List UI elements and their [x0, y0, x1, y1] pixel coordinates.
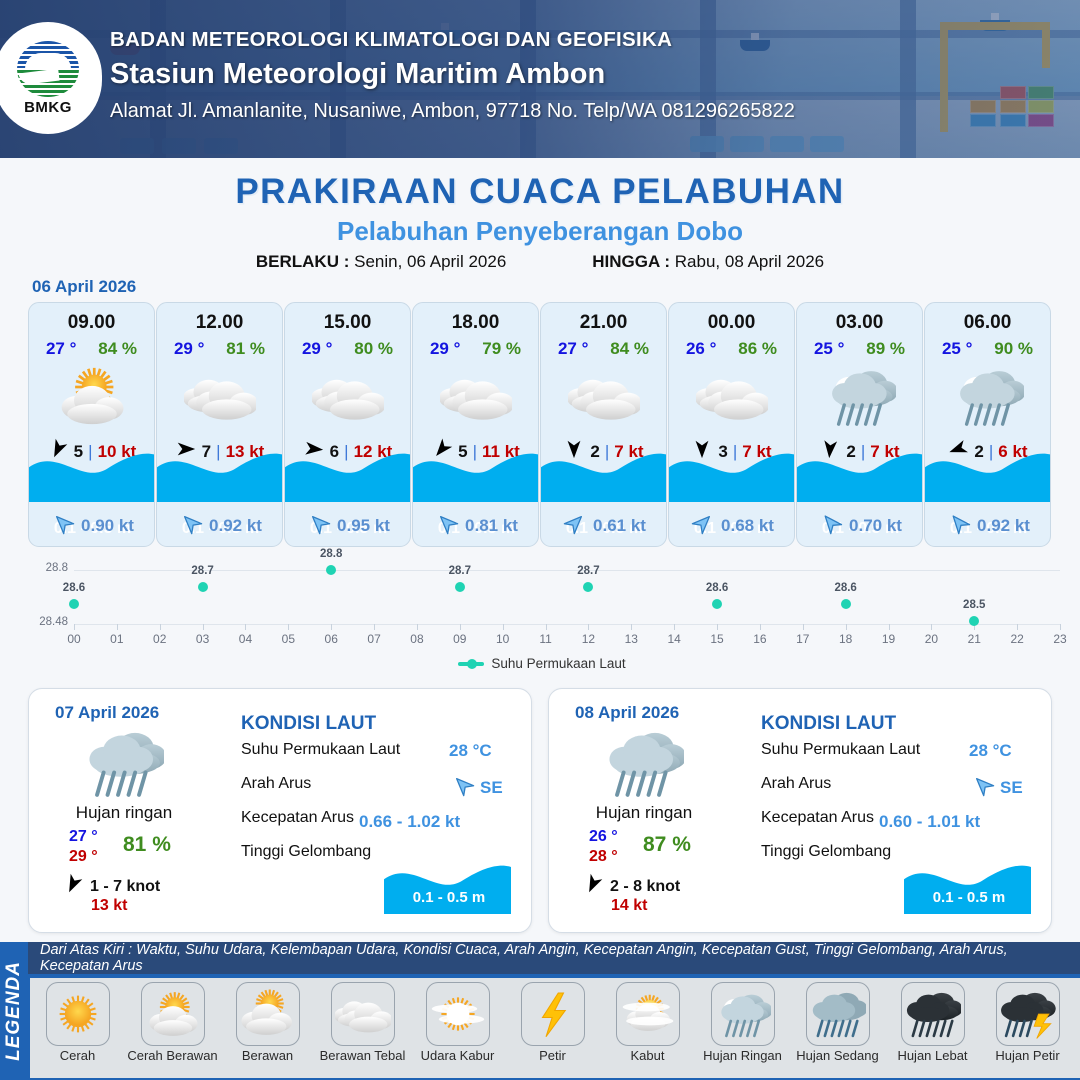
panel-current-speed: 0.60 - 1.01 kt	[879, 812, 980, 832]
legend-label: Suhu Permukaan Laut	[491, 656, 625, 671]
legend-item-label: Hujan Ringan	[703, 1049, 782, 1063]
chart-x-tick	[203, 624, 204, 630]
wind-direction-arrow-icon	[62, 873, 84, 900]
current-direction-arrow-icon	[691, 511, 715, 540]
card-wave-graphic	[669, 446, 795, 502]
card-humidity: 84 %	[610, 339, 649, 359]
legend-item: Cerah	[30, 982, 125, 1063]
card-time: 00.00	[669, 312, 794, 334]
weather-icon-cloudy	[541, 361, 666, 431]
legend-icon-moderate-rain	[806, 982, 870, 1046]
chart-data-label: 28.6	[706, 582, 728, 594]
legend-icon-thunder-rain	[996, 982, 1060, 1046]
card-temperature: 29 °	[302, 339, 332, 359]
weather-icon-light-rain	[797, 361, 922, 431]
chart-x-tick-label: 15	[710, 632, 723, 646]
hourly-card: 15.00 29 ° 80 % 6 | 12 kt 0.1 - 0.5 m	[284, 302, 411, 547]
card-current-speed: 0.92 kt	[209, 516, 262, 536]
legend-item-label: Hujan Lebat	[897, 1049, 967, 1063]
panel-wave-height: 0.1 - 0.5 m	[904, 889, 1034, 906]
chart-x-tick	[803, 624, 804, 630]
panel-condition: Hujan ringan	[569, 803, 719, 823]
current-direction-arrow-icon	[435, 511, 459, 540]
chart-y-tick-label: 28.8	[24, 562, 68, 574]
legend-item: Petir	[505, 982, 600, 1063]
card-wave-graphic	[541, 446, 667, 502]
hourly-card: 00.00 26 ° 86 % 3 | 7 kt 0.1 - 0.5 m	[668, 302, 795, 547]
card-temperature: 26 °	[686, 339, 716, 359]
chart-x-tick	[760, 624, 761, 630]
weather-icon-light-rain	[925, 361, 1050, 431]
card-temperature: 29 °	[174, 339, 204, 359]
legend-item: Berawan Tebal	[315, 982, 410, 1063]
current-direction-arrow-icon	[179, 511, 203, 540]
chart-x-tick	[1017, 624, 1018, 630]
legend-item: Hujan Sedang	[790, 982, 885, 1063]
chart-x-tick-label: 20	[925, 632, 938, 646]
hourly-card: 18.00 29 ° 79 % 5 | 11 kt 0.1 - 0.5 m	[412, 302, 539, 547]
card-time: 15.00	[285, 312, 410, 334]
panel-humidity: 87 %	[643, 833, 691, 857]
chart-data-label: 28.8	[320, 548, 342, 560]
legend-icon-sunny	[46, 982, 110, 1046]
card-current: 0.61 kt	[541, 511, 667, 540]
panel-temp-max: 29 °	[69, 847, 98, 867]
chart-x-tick	[417, 624, 418, 630]
chart-data-label: 28.6	[63, 582, 85, 594]
current-direction-arrow-icon	[947, 511, 971, 540]
chart-x-tick-label: 12	[582, 632, 595, 646]
legend-icon-list: Cerah Cerah Berawan Berawan	[30, 978, 1080, 1078]
chart-x-tick	[160, 624, 161, 630]
panel-condition: Hujan ringan	[49, 803, 199, 823]
card-humidity: 84 %	[98, 339, 137, 359]
card-current: 0.92 kt	[157, 511, 283, 540]
panel-wave-graphic: 0.1 - 0.5 m	[384, 864, 514, 914]
legend-icon-haze	[426, 982, 490, 1046]
weather-icon-cloudy	[285, 361, 410, 431]
panel-current-direction: SE	[451, 773, 503, 802]
hourly-card: 03.00 25 ° 89 % 2 | 7 kt	[796, 302, 923, 547]
chart-x-tick-label: 06	[325, 632, 338, 646]
card-current: 0.70 kt	[797, 511, 923, 540]
chart-x-tick	[889, 624, 890, 630]
legend-item-label: Cerah	[60, 1049, 95, 1063]
weather-icon-light-rain	[577, 723, 707, 801]
panel-wave-graphic: 0.1 - 0.5 m	[904, 864, 1034, 914]
panel-row-labels: Suhu Permukaan Laut Arah Arus Kecepatan …	[241, 741, 521, 877]
legend-icon-lightning	[521, 982, 585, 1046]
legend-item: Kabut	[600, 982, 695, 1063]
panel-wind: 1 - 7 knot	[62, 873, 160, 900]
valid-until-value: Rabu, 08 April 2026	[675, 252, 824, 271]
chart-data-label: 28.6	[834, 582, 856, 594]
agency-name: BADAN METEOROLOGI KLIMATOLOGI DAN GEOFIS…	[110, 28, 1060, 52]
legend-item-label: Berawan	[242, 1049, 293, 1063]
card-wave-graphic	[285, 446, 411, 502]
panel-sst-value: 28 °C	[969, 741, 1012, 761]
panel-row-labels: Suhu Permukaan Laut Arah Arus Kecepatan …	[761, 741, 1041, 877]
card-current: 0.95 kt	[285, 511, 411, 540]
card-time: 12.00	[157, 312, 282, 334]
chart-x-tick-label: 22	[1010, 632, 1023, 646]
weather-icon-cloudy	[413, 361, 538, 431]
chart-data-point	[583, 582, 593, 592]
legend-item-label: Petir	[539, 1049, 566, 1063]
weather-icon-cloudy	[669, 361, 794, 431]
hourly-card: 12.00 29 ° 81 % 7 | 13 kt 0.1 - 0.5 m	[156, 302, 283, 547]
chart-data-label: 28.5	[963, 599, 985, 611]
legend-icon-mostly-cloudy	[236, 982, 300, 1046]
chart-x-tick-label: 11	[539, 632, 551, 646]
chart-data-point	[198, 582, 208, 592]
chart-x-tick-label: 23	[1053, 632, 1066, 646]
legend-item-label: Cerah Berawan	[127, 1049, 217, 1063]
chart-x-tick-label: 03	[196, 632, 209, 646]
legend-item: Cerah Berawan	[125, 982, 220, 1063]
legend-note: Dari Atas Kiri : Waktu, Suhu Udara, Kele…	[28, 942, 1080, 974]
card-wave-graphic	[797, 446, 923, 502]
wind-direction-arrow-icon	[582, 873, 604, 900]
panel-temperatures: 26 ° 28 °	[589, 827, 618, 867]
chart-x-tick-label: 00	[67, 632, 80, 646]
legend-item-label: Hujan Sedang	[796, 1049, 878, 1063]
chart-data-point	[712, 599, 722, 609]
chart-x-tick-label: 04	[239, 632, 252, 646]
card-temperature: 27 °	[558, 339, 588, 359]
legend-item-label: Udara Kabur	[421, 1049, 495, 1063]
panel-wind-range: 1 - 7 knot	[90, 878, 160, 896]
card-wave-graphic	[29, 446, 155, 502]
card-humidity: 79 %	[482, 339, 521, 359]
chart-data-point	[69, 599, 79, 609]
card-current: 0.68 kt	[669, 511, 795, 540]
card-current-speed: 0.61 kt	[593, 516, 646, 536]
legend-item-label: Hujan Petir	[995, 1049, 1059, 1063]
chart-x-tick	[288, 624, 289, 630]
chart-x-tick-label: 07	[367, 632, 380, 646]
chart-x-tick	[631, 624, 632, 630]
card-humidity: 80 %	[354, 339, 393, 359]
chart-x-tick-label: 16	[753, 632, 766, 646]
panel-gust: 13 kt	[91, 897, 127, 915]
panel-temp-max: 28 °	[589, 847, 618, 867]
card-wave-graphic	[413, 446, 539, 502]
weather-icon-partly-cloudy	[29, 361, 154, 431]
chart-x-tick	[674, 624, 675, 630]
card-current: 0.90 kt	[29, 511, 155, 540]
hourly-card: 06.00 25 ° 90 % 2 | 6 kt	[924, 302, 1051, 547]
chart-x-tick-label: 02	[153, 632, 166, 646]
panel-section-title: KONDISI LAUT	[761, 713, 896, 735]
card-current-speed: 0.92 kt	[977, 516, 1030, 536]
legend-icon-partly-cloudy	[141, 982, 205, 1046]
panel-current-direction-label: SE	[480, 778, 503, 798]
panel-wind: 2 - 8 knot	[582, 873, 680, 900]
panel-current-speed: 0.66 - 1.02 kt	[359, 812, 460, 832]
chart-x-tick	[503, 624, 504, 630]
panel-gust: 14 kt	[611, 897, 647, 915]
legend-item: Hujan Ringan	[695, 982, 790, 1063]
page-header: BMKG BADAN METEOROLOGI KLIMATOLOGI DAN G…	[0, 0, 1080, 158]
chart-legend: Suhu Permukaan Laut	[24, 656, 1060, 671]
chart-data-point	[841, 599, 851, 609]
chart-x-tick	[846, 624, 847, 630]
chart-x-tick	[931, 624, 932, 630]
weather-icon-cloudy	[157, 361, 282, 431]
chart-x-tick-label: 21	[968, 632, 981, 646]
station-name: Stasiun Meteorologi Maritim Ambon	[110, 58, 1060, 91]
chart-x-tick	[717, 624, 718, 630]
card-time: 06.00	[925, 312, 1050, 334]
sst-chart: Suhu Permukaan Laut 28.828.4800010203040…	[24, 552, 1060, 682]
card-current: 0.81 kt	[413, 511, 539, 540]
current-direction-arrow-icon	[307, 511, 331, 540]
chart-gridline	[74, 570, 1060, 571]
card-time: 09.00	[29, 312, 154, 334]
page-title: PRAKIRAAN CUACA PELABUHAN	[0, 172, 1080, 212]
card-current: 0.92 kt	[925, 511, 1051, 540]
panel-temperatures: 27 ° 29 °	[69, 827, 98, 867]
chart-data-point	[455, 582, 465, 592]
chart-x-tick-label: 08	[410, 632, 423, 646]
chart-x-tick	[460, 624, 461, 630]
chart-x-tick	[546, 624, 547, 630]
card-current-speed: 0.70 kt	[849, 516, 902, 536]
valid-from-value: Senin, 06 April 2026	[354, 252, 506, 271]
current-direction-arrow-icon	[563, 511, 587, 540]
hourly-forecast-cards: 09.00 27 ° 84 % 5 | 10 kt 0.1 - 0.5 m 0.…	[28, 302, 1052, 547]
chart-x-tick-label: 09	[453, 632, 466, 646]
daily-panel: 07 April 2026 Hujan ringan 27 ° 29 ° 81 …	[28, 688, 532, 933]
chart-data-label: 28.7	[191, 565, 213, 577]
station-address: Alamat Jl. Amanlanite, Nusaniwe, Ambon, …	[110, 100, 1060, 123]
card-temperature: 25 °	[814, 339, 844, 359]
card-temperature: 29 °	[430, 339, 460, 359]
panel-temp-min: 26 °	[589, 827, 618, 847]
card-wave-graphic	[157, 446, 283, 502]
logo-text: BMKG	[24, 99, 72, 116]
hourly-card: 21.00 27 ° 84 % 2 | 7 kt 0.1 - 0.5 m	[540, 302, 667, 547]
panel-temp-min: 27 °	[69, 827, 98, 847]
hourly-card: 09.00 27 ° 84 % 5 | 10 kt 0.1 - 0.5 m 0.…	[28, 302, 155, 547]
chart-x-tick-label: 10	[496, 632, 509, 646]
card-current-speed: 0.95 kt	[337, 516, 390, 536]
chart-x-tick	[1060, 624, 1061, 630]
legend-item: Udara Kabur	[410, 982, 505, 1063]
panel-section-title: KONDISI LAUT	[241, 713, 376, 735]
chart-x-tick-label: 18	[839, 632, 852, 646]
legend-side-label: LEGENDA	[0, 942, 28, 1080]
bmkg-logo: BMKG	[0, 22, 102, 134]
chart-x-tick-label: 19	[882, 632, 895, 646]
legend-item-label: Berawan Tebal	[320, 1049, 406, 1063]
chart-x-tick-label: 05	[282, 632, 295, 646]
legend-icon-heavy-rain	[901, 982, 965, 1046]
card-current-speed: 0.68 kt	[721, 516, 774, 536]
legend-marker-icon	[458, 662, 484, 666]
chart-x-tick	[74, 624, 75, 630]
legend-item: Hujan Lebat	[885, 982, 980, 1063]
legend-icon-fog	[616, 982, 680, 1046]
current-direction-arrow-icon	[819, 511, 843, 540]
chart-x-tick	[117, 624, 118, 630]
legend-icon-cloudy	[331, 982, 395, 1046]
card-time: 03.00	[797, 312, 922, 334]
weather-icon-light-rain	[57, 723, 187, 801]
panel-wave-height: 0.1 - 0.5 m	[384, 889, 514, 906]
panel-current-direction-label: SE	[1000, 778, 1023, 798]
chart-x-tick-label: 13	[625, 632, 638, 646]
panel-sst-value: 28 °C	[449, 741, 492, 761]
validity-row: BERLAKU : Senin, 06 April 2026 HINGGA : …	[0, 252, 1080, 272]
valid-from-label: BERLAKU :	[256, 252, 350, 271]
chart-x-tick	[588, 624, 589, 630]
legend-item-label: Kabut	[631, 1049, 665, 1063]
card-humidity: 90 %	[994, 339, 1033, 359]
panel-wind-range: 2 - 8 knot	[610, 878, 680, 896]
chart-x-tick-label: 17	[796, 632, 809, 646]
current-direction-arrow-icon	[51, 511, 75, 540]
chart-y-tick-label: 28.48	[24, 616, 68, 628]
legend-item: Hujan Petir	[980, 982, 1075, 1063]
chart-x-tick	[374, 624, 375, 630]
card-temperature: 27 °	[46, 339, 76, 359]
valid-until-label: HINGGA :	[592, 252, 670, 271]
card-wave-graphic	[925, 446, 1051, 502]
chart-x-tick	[331, 624, 332, 630]
chart-data-label: 28.7	[577, 565, 599, 577]
hourly-date: 06 April 2026	[32, 277, 136, 297]
card-time: 18.00	[413, 312, 538, 334]
page-subtitle: Pelabuhan Penyeberangan Dobo	[0, 216, 1080, 247]
card-temperature: 25 °	[942, 339, 972, 359]
legend-icon-light-rain	[711, 982, 775, 1046]
daily-panel: 08 April 2026 Hujan ringan 26 ° 28 ° 87 …	[548, 688, 1052, 933]
card-time: 21.00	[541, 312, 666, 334]
card-humidity: 81 %	[226, 339, 265, 359]
bmkg-emblem-icon	[17, 41, 79, 97]
current-direction-arrow-icon	[971, 773, 995, 802]
chart-x-tick-label: 14	[667, 632, 680, 646]
chart-data-label: 28.7	[449, 565, 471, 577]
legend-item: Berawan	[220, 982, 315, 1063]
chart-gridline	[74, 624, 1060, 625]
card-current-speed: 0.81 kt	[465, 516, 518, 536]
card-humidity: 86 %	[738, 339, 777, 359]
chart-x-tick-label: 01	[110, 632, 123, 646]
card-current-speed: 0.90 kt	[81, 516, 134, 536]
chart-x-tick	[245, 624, 246, 630]
panel-humidity: 81 %	[123, 833, 171, 857]
chart-data-point	[326, 565, 336, 575]
current-direction-arrow-icon	[451, 773, 475, 802]
daily-forecast-panels: 07 April 2026 Hujan ringan 27 ° 29 ° 81 …	[28, 688, 1052, 933]
panel-current-direction: SE	[971, 773, 1023, 802]
card-humidity: 89 %	[866, 339, 905, 359]
chart-data-point	[969, 616, 979, 626]
